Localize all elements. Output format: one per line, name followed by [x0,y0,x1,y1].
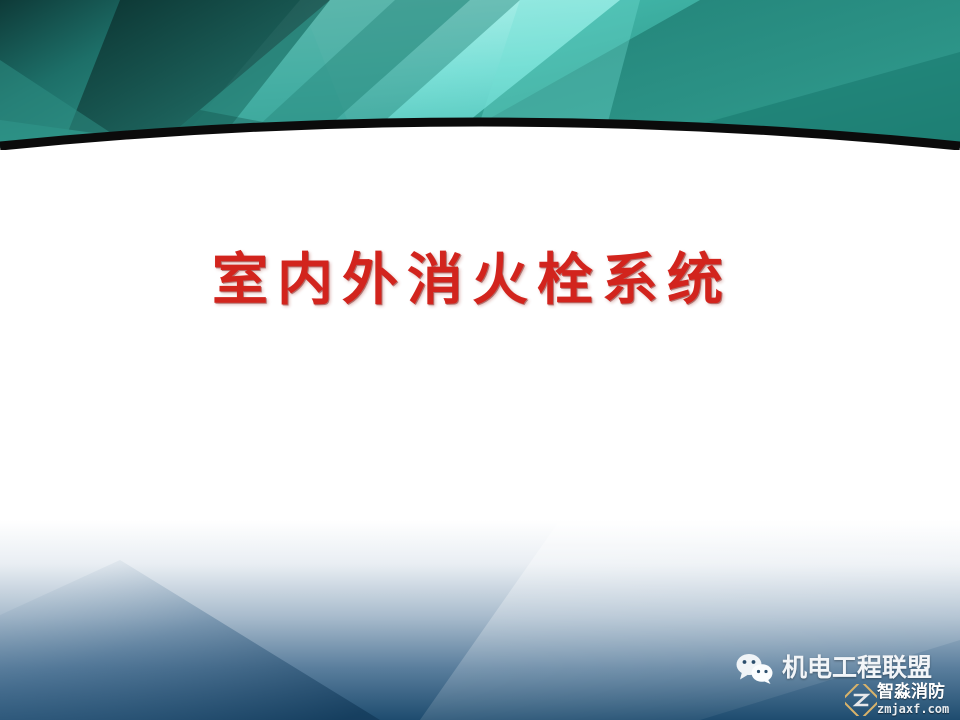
wechat-brand-watermark: 机电工程联盟 [735,652,932,684]
diamond-z-logo-icon [845,684,877,716]
watermark-cluster: 机电工程联盟 智淼消防 zmjaxf.com [735,650,960,720]
teal-geometric-graphic [0,0,960,152]
logo-text-group: 智淼消防 zmjaxf.com [877,682,960,716]
zmjaxf-logo-watermark: 智淼消防 zmjaxf.com [845,682,960,720]
watermark-logo-name: 智淼消防 [877,682,960,702]
presentation-slide: 室内外消火栓系统 [0,0,960,720]
watermark-brand-text: 机电工程联盟 [782,653,932,683]
wechat-icon [735,652,775,684]
slide-header-banner [0,0,960,152]
slide-body [0,150,960,570]
watermark-logo-url: zmjaxf.com [877,702,960,716]
